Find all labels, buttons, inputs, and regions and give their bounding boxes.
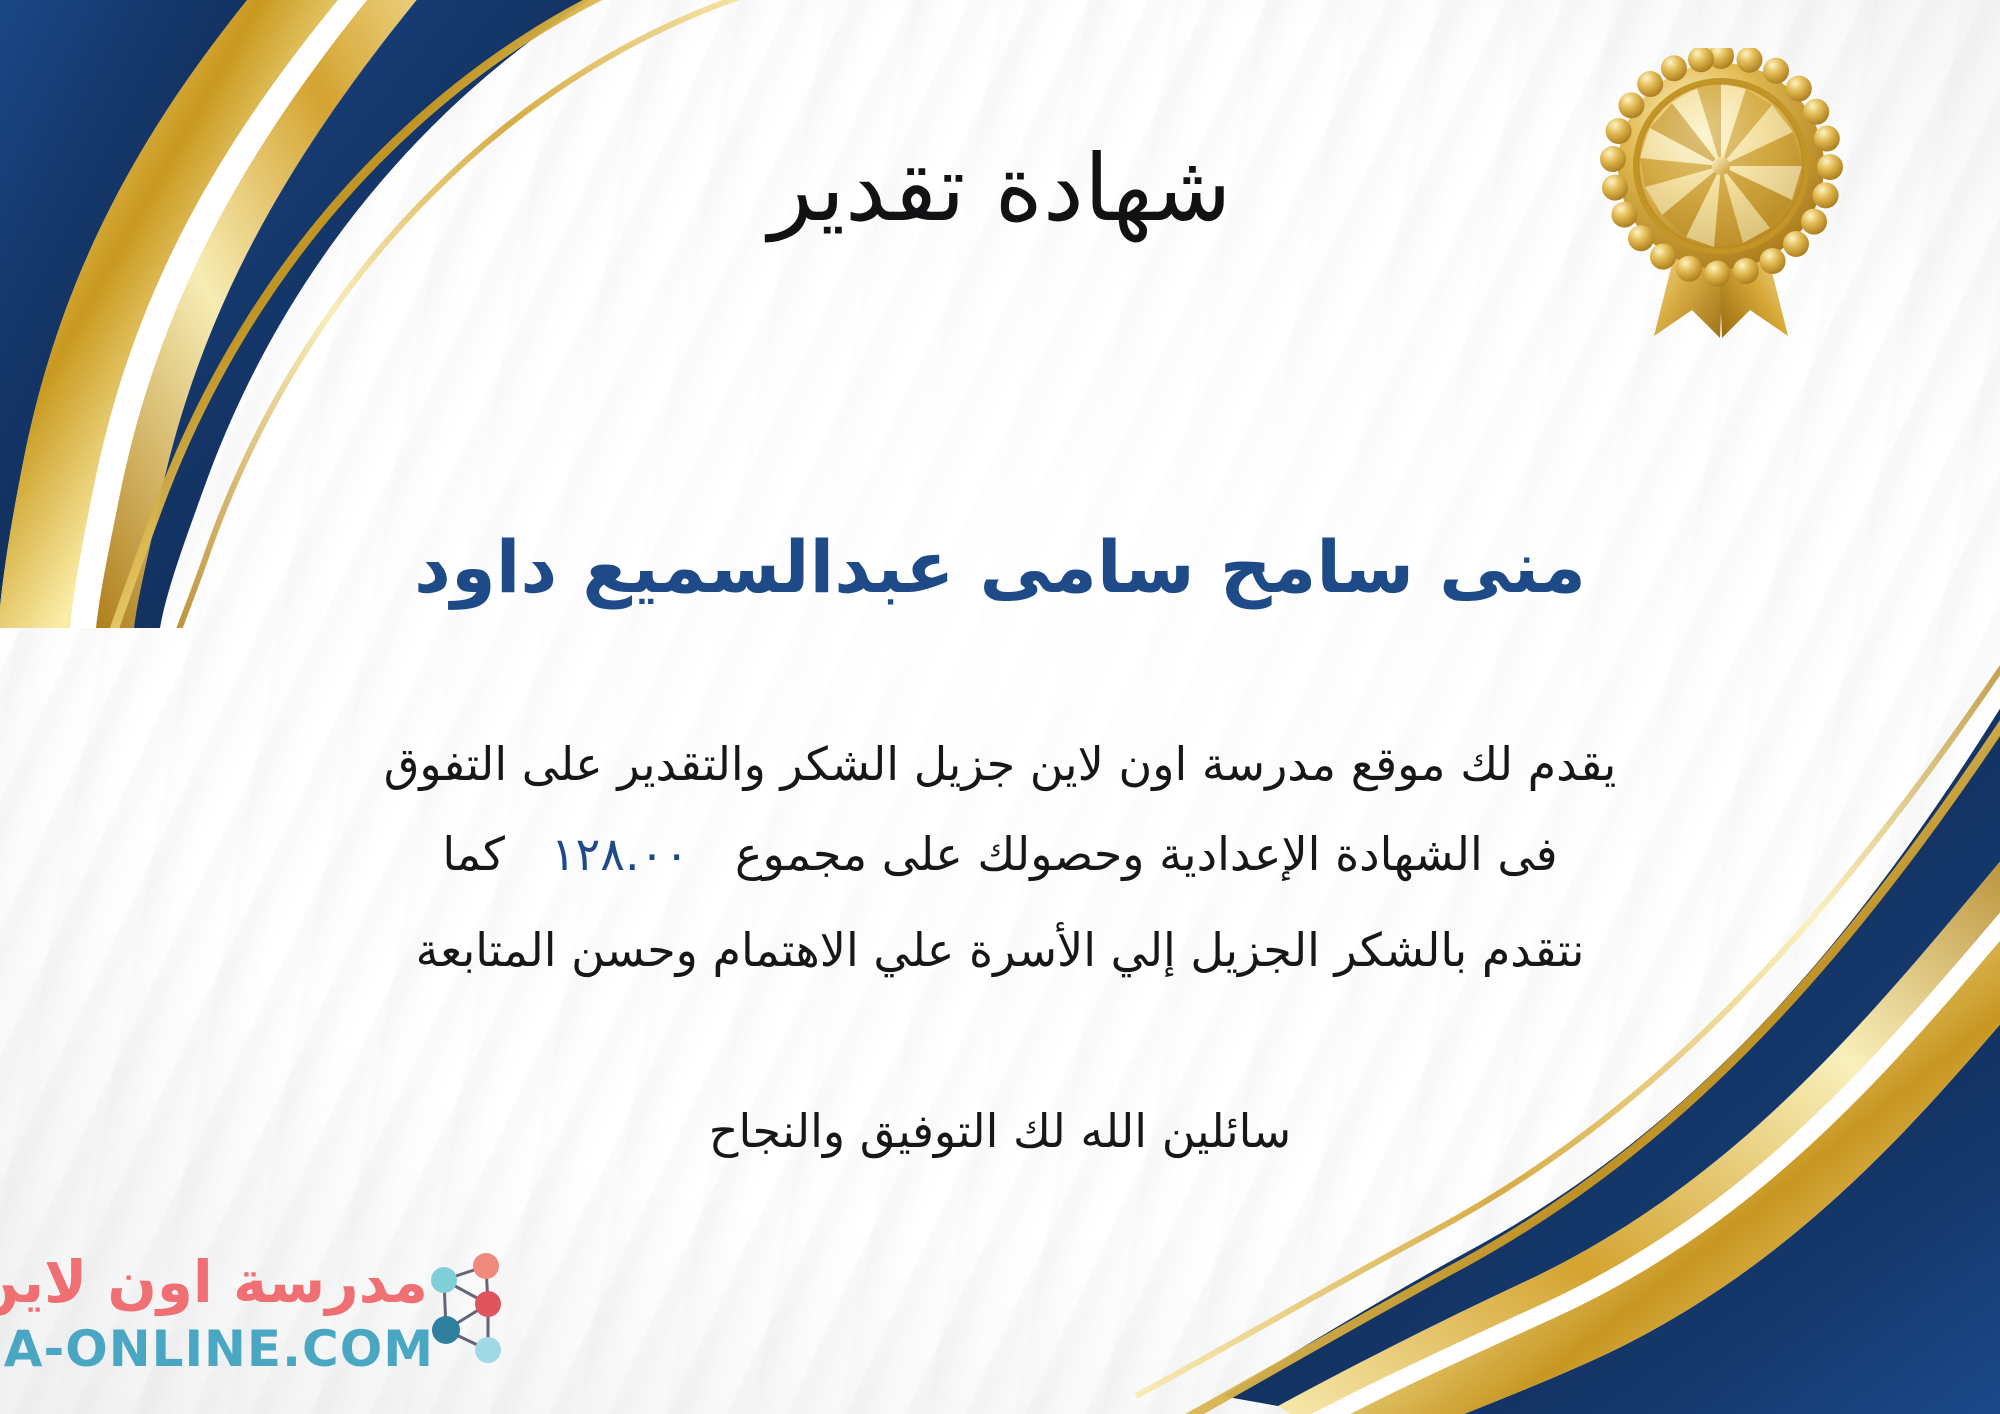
logo-arabic-text: مدرسة اون لاين bbox=[0, 1248, 428, 1316]
certificate-title: شهادة تقدير bbox=[0, 136, 2000, 242]
closing-line: سائلين الله لك التوفيق والنجاح bbox=[60, 1104, 1940, 1158]
body-line-3: نتقدم بالشكر الجزيل إلي الأسرة علي الاهت… bbox=[60, 922, 1940, 980]
body-line-2: فى الشهادة الإعدادية وحصولك على مجموع١٢٨… bbox=[60, 826, 1940, 884]
site-logo[interactable]: مدرسة اون لاين MADRSA-ONLINE.COM bbox=[26, 1242, 496, 1392]
student-name: منى سامح سامى عبدالسميع داود bbox=[0, 524, 2000, 610]
body-line-1: يقدم لك موقع مدرسة اون لاين جزيل الشكر و… bbox=[60, 736, 1940, 794]
logo-url-text: MADRSA-ONLINE.COM bbox=[0, 1320, 434, 1378]
body-line-2-suffix: كما bbox=[442, 827, 505, 881]
network-nodes-icon bbox=[424, 1246, 510, 1376]
certificate-content: شهادة تقدير منى سامح سامى عبدالسميع داود… bbox=[0, 0, 2000, 1414]
total-score-value: ١٢٨.٠٠ bbox=[551, 827, 689, 881]
certificate-page: شهادة تقدير منى سامح سامى عبدالسميع داود… bbox=[0, 0, 2000, 1414]
body-line-2-prefix: فى الشهادة الإعدادية وحصولك على مجموع bbox=[735, 827, 1558, 881]
